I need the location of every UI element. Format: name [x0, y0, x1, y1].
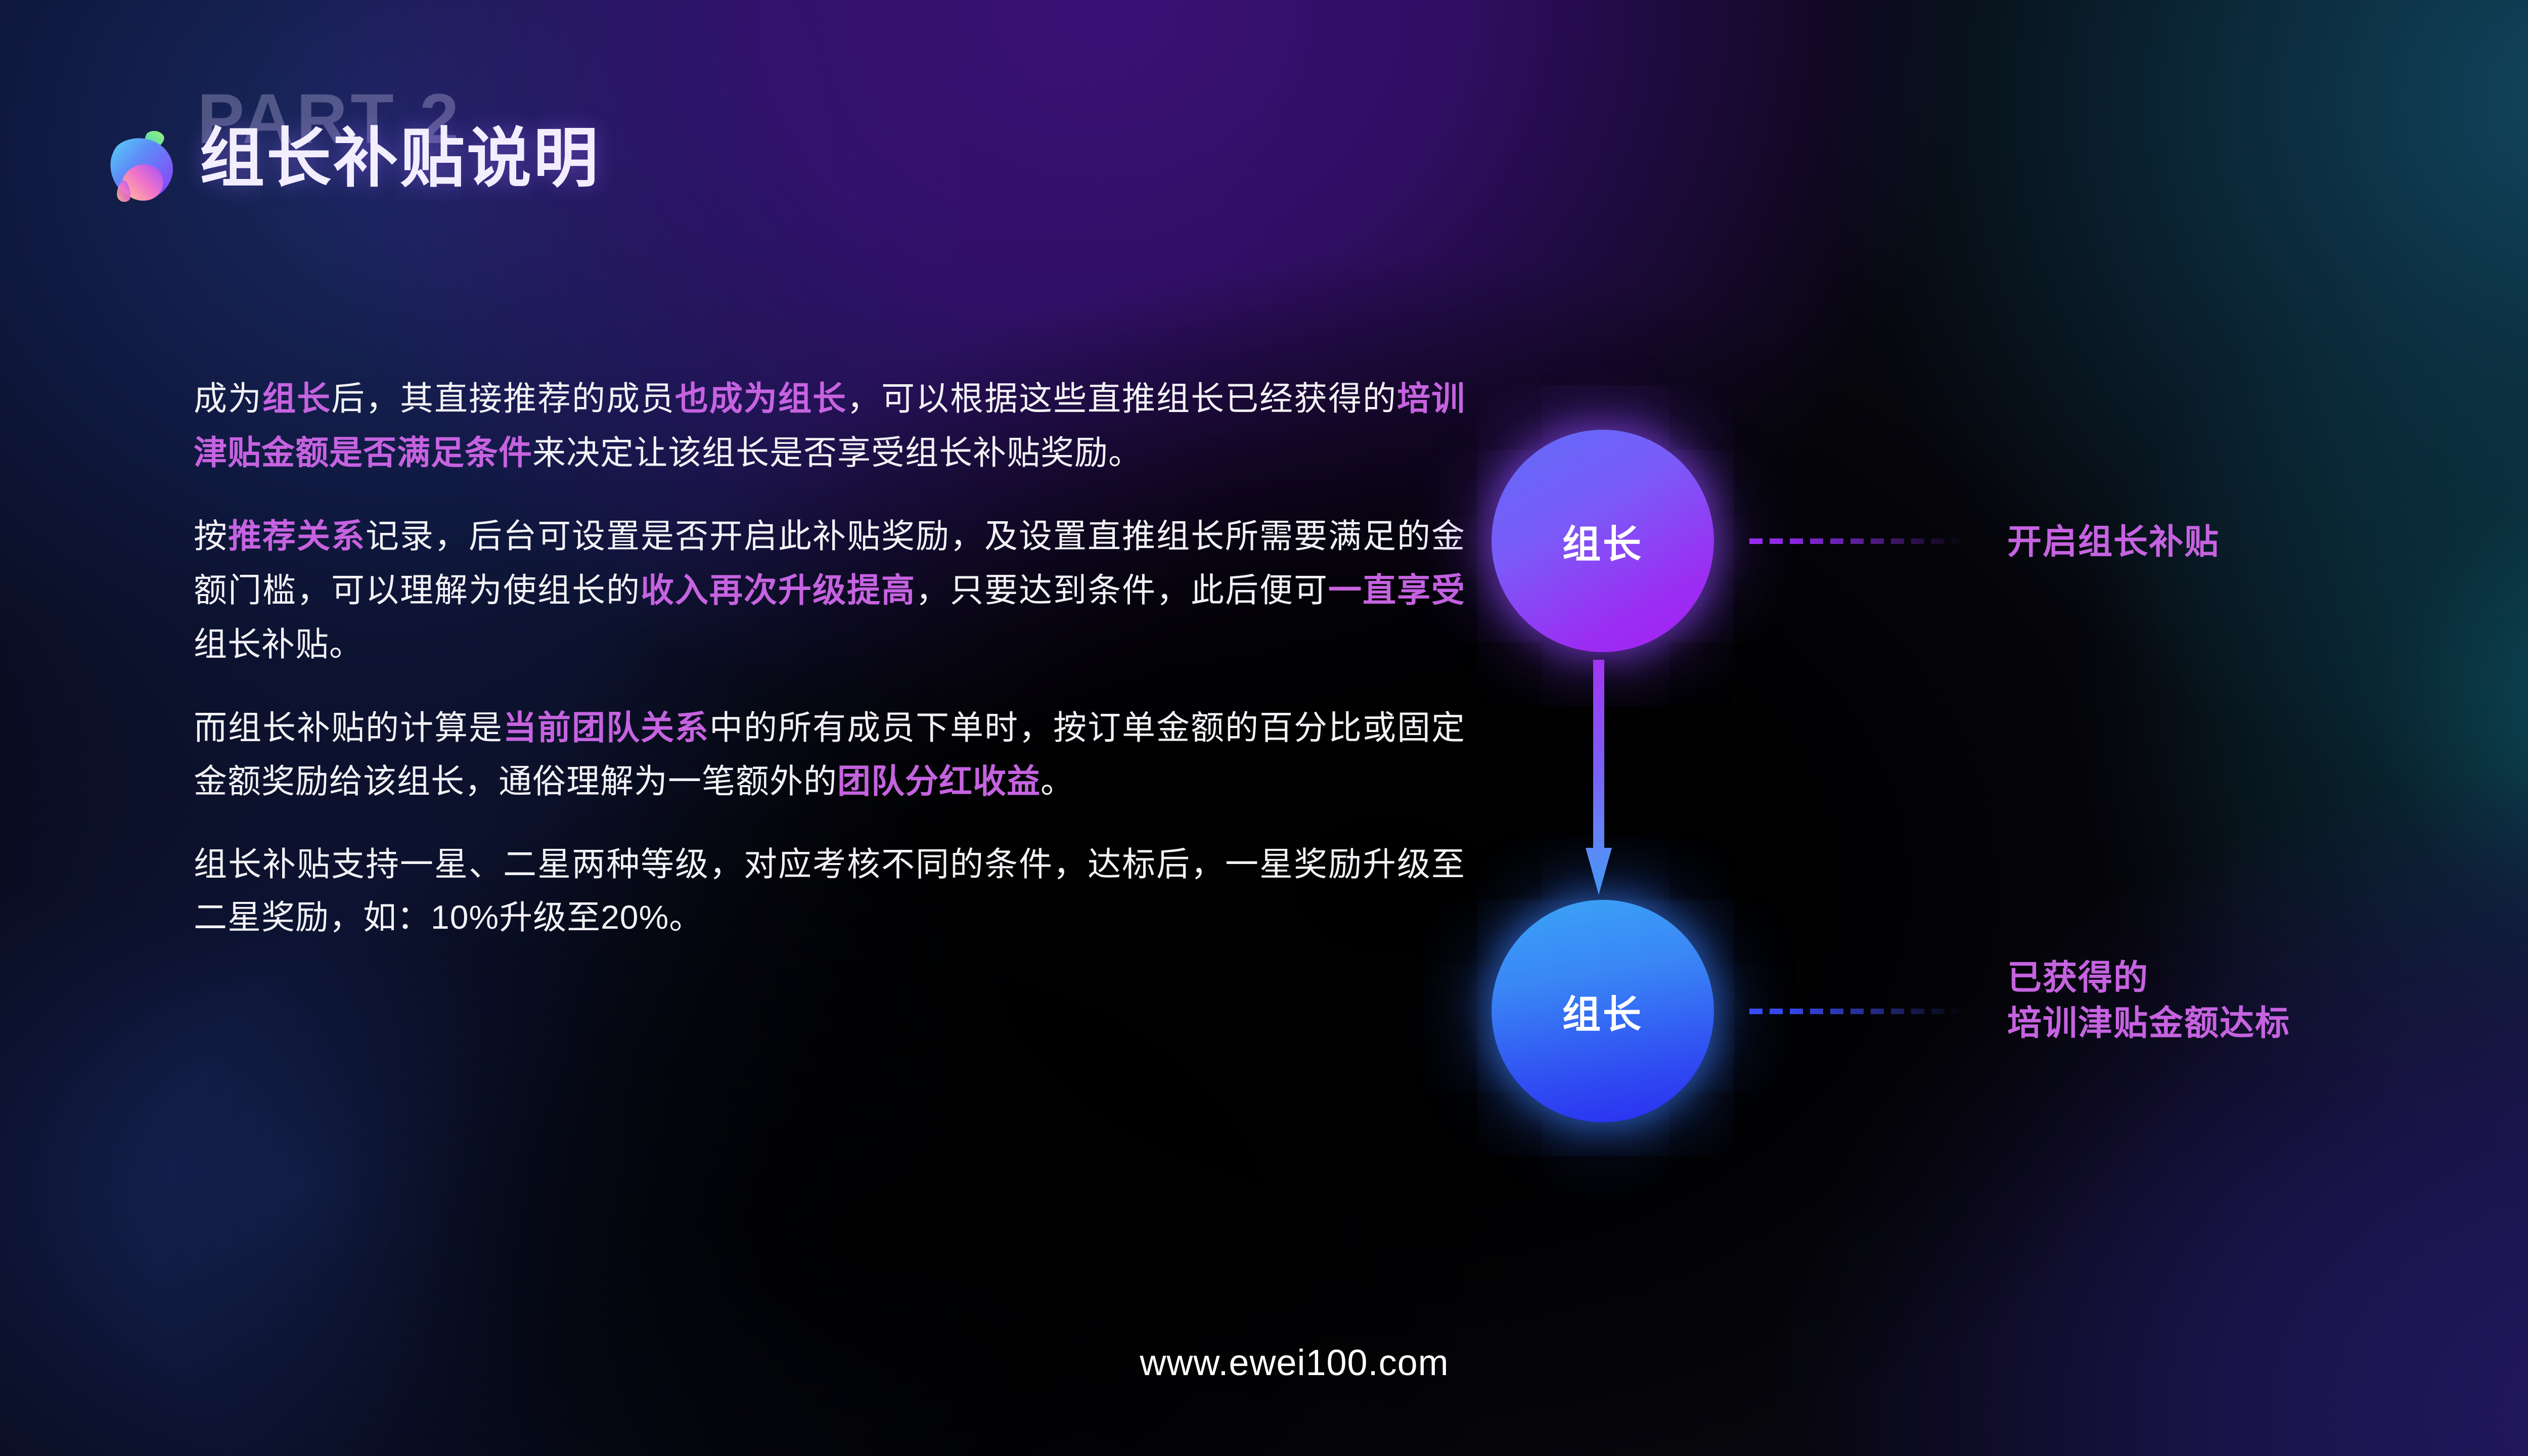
annotation-training-threshold: 已获得的 培训津贴金额达标: [2007, 955, 2290, 1046]
connector-dashed-bottom: [1749, 1009, 1964, 1014]
plain-phrase: 来决定让该组长是否享受组长补贴奖励。: [532, 434, 1142, 471]
annotation-line: 已获得的: [2007, 955, 2290, 1001]
plain-phrase: 。: [1041, 762, 1074, 800]
annotation-line: 开启组长补贴: [2007, 520, 2220, 565]
blob-logo-icon: [94, 115, 190, 211]
highlighted-phrase: 一直享受: [1328, 571, 1465, 609]
paragraph-1: 成为组长后，其直接推荐的成员也成为组长，可以根据这些直推组长已经获得的培训津贴金…: [194, 372, 1465, 480]
node-label-text: 组长: [1562, 513, 1643, 569]
page-title: 组长补贴说明: [200, 126, 600, 191]
paragraph-3: 而组长补贴的计算是当前团队关系中的所有成员下单时，按订单金额的百分比或固定金额奖…: [194, 701, 1465, 809]
annotation-line: 培训津贴金额达标: [2007, 1001, 2290, 1046]
body-text-column: 成为组长后，其直接推荐的成员也成为组长，可以根据这些直推组长已经获得的培训津贴金…: [194, 372, 1465, 943]
connector-dashed-top: [1749, 538, 1964, 544]
plain-phrase: 按: [194, 517, 228, 555]
plain-phrase: 组长补贴。: [194, 625, 363, 663]
node-team-leader-bottom[interactable]: 组长: [1492, 900, 1714, 1122]
highlighted-phrase: 也成为组长: [675, 380, 847, 417]
plain-phrase: 后，其直接推荐的成员: [331, 380, 675, 417]
plain-phrase: ，可以根据这些直推组长已经获得的: [847, 380, 1397, 417]
footer-url: www.ewei100.com: [0, 1342, 2528, 1384]
highlighted-phrase: 团队分红收益: [837, 762, 1041, 800]
hierarchy-diagram: 组长 组长 开启组长补贴 已获得的 培: [1456, 404, 2528, 1112]
paragraph-4: 组长补贴支持一星、二星两种等级，对应考核不同的条件，达标后，一星奖励升级至二星奖…: [194, 838, 1465, 943]
plain-phrase: ，只要达到条件，此后便可: [916, 571, 1328, 609]
slide-canvas: PART 2 组长补贴说明 成为组长后，其直接推荐的成员也成为组长，可以根据这些…: [0, 0, 2528, 1456]
paragraph-2: 按推荐关系记录，后台可设置是否开启此补贴奖励，及设置直推组长所需要满足的金额门槛…: [194, 509, 1465, 671]
highlighted-phrase: 推荐关系: [228, 517, 366, 555]
node-team-leader-top[interactable]: 组长: [1492, 430, 1714, 652]
slide-header: PART 2 组长补贴说明: [94, 83, 902, 235]
node-label-text: 组长: [1562, 983, 1643, 1039]
highlighted-phrase: 组长: [262, 380, 331, 417]
highlighted-phrase: 收入再次升级提高: [641, 571, 916, 609]
annotation-enable-subsidy: 开启组长补贴: [2007, 520, 2220, 565]
plain-phrase: 而组长补贴的计算是: [194, 709, 503, 746]
highlighted-phrase: 当前团队关系: [503, 709, 709, 746]
plain-phrase: 成为: [194, 380, 262, 417]
down-arrow-icon: [1586, 660, 1612, 895]
plain-phrase: 组长补贴支持一星、二星两种等级，对应考核不同的条件，达标后，一星奖励升级至二星奖…: [194, 845, 1465, 935]
